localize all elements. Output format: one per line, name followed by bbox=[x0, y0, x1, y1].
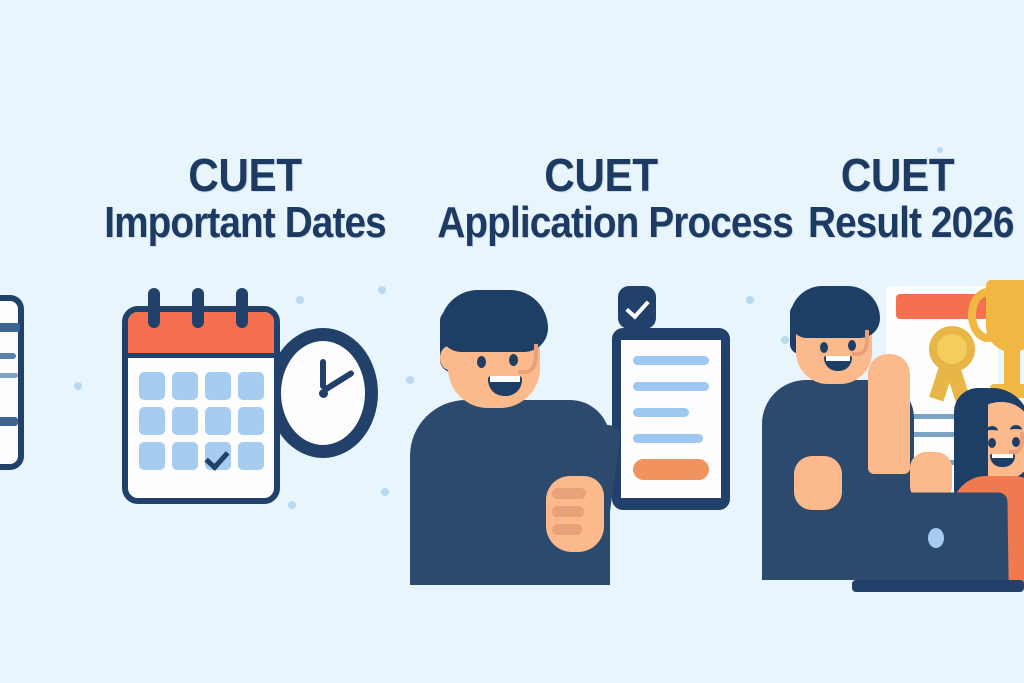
calendar-cell bbox=[172, 407, 198, 435]
calendar-cell bbox=[139, 372, 165, 400]
finger bbox=[552, 506, 584, 517]
form-line bbox=[633, 356, 709, 365]
heading-line-1: CUET bbox=[75, 152, 415, 199]
calendar-cell bbox=[238, 372, 264, 400]
form-page bbox=[621, 340, 721, 498]
card-line bbox=[0, 373, 18, 378]
person-eye bbox=[477, 356, 486, 368]
calendar-cell bbox=[172, 372, 198, 400]
decorative-dot bbox=[74, 382, 82, 390]
calendar-cell bbox=[205, 372, 231, 400]
form-line bbox=[633, 434, 703, 443]
man-eye bbox=[820, 342, 828, 353]
laptop-logo bbox=[928, 528, 944, 548]
clipped-document-card bbox=[0, 295, 24, 470]
calendar-cell bbox=[205, 407, 231, 435]
person-hair bbox=[440, 290, 548, 352]
award-medal-icon bbox=[929, 326, 975, 372]
card-line bbox=[0, 353, 16, 359]
calendar-cell-checked bbox=[205, 442, 231, 470]
panel-heading-application-process: CUET Application Process bbox=[415, 152, 787, 246]
clock-hour-hand bbox=[320, 359, 326, 389]
man-raised-arm bbox=[868, 354, 910, 474]
clock-icon bbox=[268, 328, 378, 458]
finger bbox=[552, 488, 586, 499]
calendar-cell bbox=[139, 442, 165, 470]
result-celebration-illustration bbox=[768, 280, 1024, 590]
heading-line-1: CUET bbox=[799, 152, 997, 199]
form-line bbox=[633, 382, 709, 391]
calendar-ring bbox=[148, 288, 160, 328]
man-fist bbox=[794, 456, 842, 510]
panel-heading-result: CUET Result 2026 bbox=[790, 152, 1024, 246]
laptop-base bbox=[852, 580, 1024, 592]
card-line bbox=[0, 417, 18, 426]
heading-line-1: CUET bbox=[430, 152, 772, 199]
check-badge-icon bbox=[618, 286, 656, 329]
calendar-ring bbox=[192, 288, 204, 328]
trophy-stem bbox=[1004, 350, 1020, 386]
application-process-illustration bbox=[420, 280, 750, 580]
calendar-icon bbox=[122, 306, 280, 504]
cuet-infographic-banner: CUET Important Dates CUET Application Pr… bbox=[0, 0, 1024, 683]
heading-line-2: Important Dates bbox=[82, 201, 408, 246]
calendar-clock-illustration bbox=[108, 288, 388, 508]
heading-line-2: Result 2026 bbox=[808, 201, 1024, 246]
application-form-card bbox=[612, 328, 730, 510]
clock-pivot bbox=[319, 389, 328, 398]
woman-eye bbox=[988, 438, 996, 448]
person-eye bbox=[509, 354, 518, 366]
panel-heading-important-dates: CUET Important Dates bbox=[60, 152, 430, 246]
form-line bbox=[633, 408, 689, 417]
calendar-cell bbox=[238, 407, 264, 435]
finger bbox=[552, 524, 582, 535]
calendar-cell bbox=[238, 442, 264, 470]
person-hand bbox=[546, 476, 604, 552]
calendar-cell bbox=[172, 442, 198, 470]
heading-line-2: Application Process bbox=[437, 201, 764, 246]
form-submit-button[interactable] bbox=[633, 459, 709, 480]
calendar-cell bbox=[139, 407, 165, 435]
decorative-dot bbox=[406, 376, 414, 384]
card-line bbox=[0, 323, 20, 332]
calendar-ring bbox=[236, 288, 248, 328]
calendar-date-grid bbox=[139, 372, 264, 470]
trophy-icon bbox=[986, 280, 1024, 352]
